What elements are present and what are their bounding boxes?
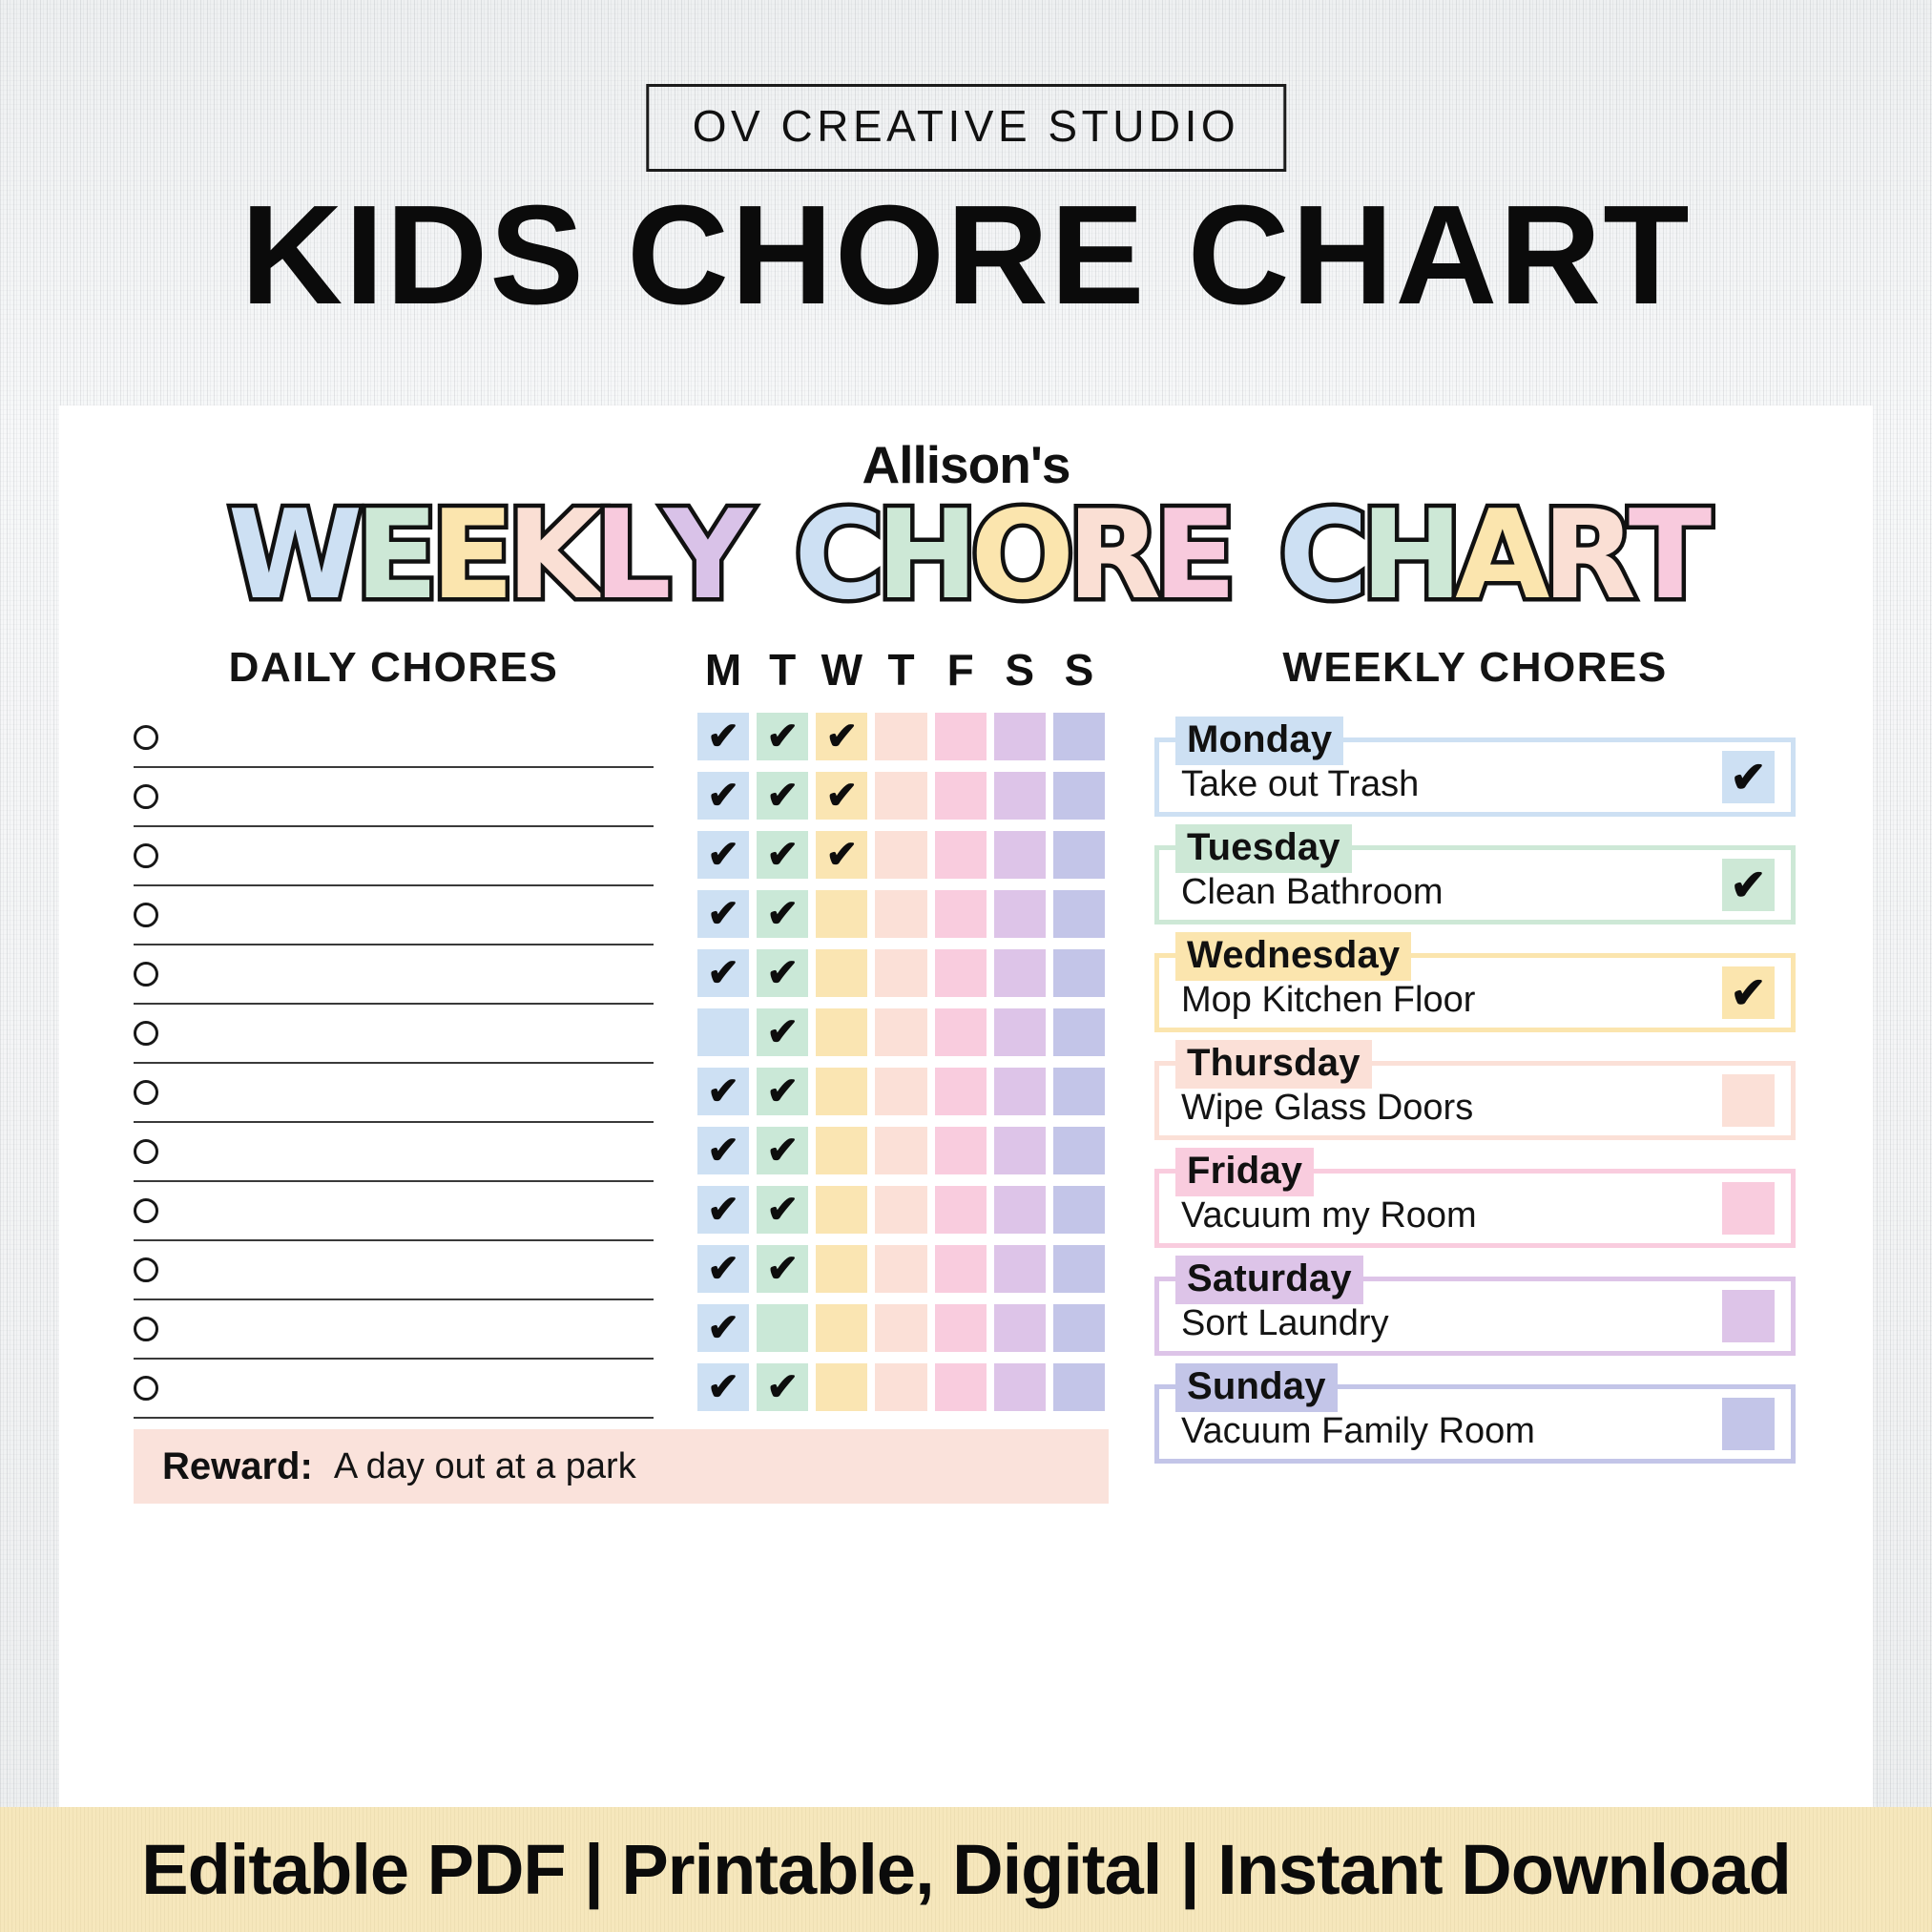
bubble-letter: Y: [664, 495, 747, 617]
checkbox-circle-icon[interactable]: [134, 962, 158, 987]
checkbox-circle-icon[interactable]: [134, 725, 158, 750]
grid-cell-empty[interactable]: [994, 1068, 1046, 1115]
bubble-word-weekly: WEEKLY: [228, 495, 745, 617]
daily-chores-list: [134, 709, 654, 1419]
grid-cell-empty[interactable]: [1053, 1068, 1105, 1115]
day-initial-5: S: [990, 644, 1049, 696]
grid-cell-checked[interactable]: ✔: [697, 890, 749, 938]
grid-cell-checked[interactable]: ✔: [816, 831, 867, 879]
reward-value[interactable]: A day out at a park: [334, 1446, 636, 1487]
grid-cell-empty[interactable]: [875, 713, 926, 760]
grid-cell-empty[interactable]: [875, 1245, 926, 1293]
grid-cell-empty[interactable]: [994, 772, 1046, 820]
daily-chore-row[interactable]: [134, 1241, 654, 1300]
grid-row: ✔✔: [694, 1121, 1109, 1180]
grid-cell-empty[interactable]: [875, 831, 926, 879]
bubble-letter: C: [1278, 495, 1362, 617]
checkbox-circle-icon[interactable]: [134, 1080, 158, 1105]
grid-cell-empty[interactable]: [994, 949, 1046, 997]
weekly-checkbox-empty[interactable]: [1722, 1290, 1775, 1342]
weekly-chores-list: MondayTake out Trash✔TuesdayClean Bathro…: [1154, 717, 1796, 1471]
weekly-chore-row[interactable]: ThursdayWipe Glass Doors: [1154, 1040, 1796, 1148]
checkbox-circle-icon[interactable]: [134, 1139, 158, 1164]
weekly-checkbox-empty[interactable]: [1722, 1074, 1775, 1127]
checkbox-circle-icon[interactable]: [134, 1317, 158, 1341]
weekly-chore-row[interactable]: SaturdaySort Laundry: [1154, 1256, 1796, 1363]
grid-cell-empty[interactable]: [994, 831, 1046, 879]
daily-chore-row[interactable]: [134, 1123, 654, 1182]
daily-chore-row[interactable]: [134, 1005, 654, 1064]
daily-chore-row[interactable]: [134, 886, 654, 945]
grid-cell-empty[interactable]: [994, 1127, 1046, 1174]
grid-cell-checked[interactable]: ✔: [757, 1363, 808, 1411]
grid-row: ✔✔✔: [694, 766, 1109, 825]
grid-cell-checked[interactable]: ✔: [697, 1363, 749, 1411]
day-initial-4: F: [931, 644, 990, 696]
grid-cell-empty[interactable]: [1053, 1245, 1105, 1293]
grid-row: ✔✔: [694, 1180, 1109, 1239]
weekly-task-label[interactable]: Wipe Glass Doors: [1181, 1088, 1473, 1129]
day-initial-3: T: [871, 644, 930, 696]
grid-cell-empty[interactable]: [935, 1363, 987, 1411]
weekly-checkbox-checked[interactable]: ✔: [1722, 859, 1775, 911]
bubble-letter: T: [1629, 495, 1706, 617]
grid-cell-empty[interactable]: [1053, 1363, 1105, 1411]
grid-cell-empty[interactable]: [935, 1127, 987, 1174]
grid-cell-empty[interactable]: [1053, 1008, 1105, 1056]
chore-chart-card: Allison's WEEKLYCHORECHART DAILY CHORES …: [59, 405, 1873, 1837]
grid-body: ✔✔✔✔✔✔✔✔✔✔✔✔✔✔✔✔✔✔✔✔✔✔✔✔✔: [694, 707, 1109, 1417]
grid-cell-empty[interactable]: [935, 1068, 987, 1115]
bubble-letter: A: [1455, 495, 1544, 617]
bubble-letter: L: [593, 495, 666, 617]
grid-cell-checked[interactable]: ✔: [697, 831, 749, 879]
grid-cell-empty[interactable]: [816, 949, 867, 997]
grid-cell-empty[interactable]: [875, 1008, 926, 1056]
grid-cell-checked[interactable]: ✔: [757, 772, 808, 820]
bubble-letter: R: [1542, 495, 1631, 617]
grid-cell-checked[interactable]: ✔: [697, 949, 749, 997]
grid-cell-empty[interactable]: [994, 1245, 1046, 1293]
grid-cell-checked[interactable]: ✔: [757, 1186, 808, 1234]
banner-text: Editable PDF | Printable, Digital | Inst…: [141, 1829, 1791, 1910]
bottom-banner: Editable PDF | Printable, Digital | Inst…: [0, 1807, 1932, 1932]
bubble-word-chart: CHART: [1278, 495, 1704, 617]
grid-cell-empty[interactable]: [994, 713, 1046, 760]
daily-chores-heading: DAILY CHORES: [134, 644, 654, 692]
grid-cell-empty[interactable]: [875, 1363, 926, 1411]
grid-cell-checked[interactable]: ✔: [757, 1245, 808, 1293]
brand-logo-box: OV CREATIVE STUDIO: [646, 84, 1286, 172]
bubble-letter: H: [876, 495, 972, 617]
weekly-day-label: Friday: [1175, 1148, 1314, 1196]
grid-cell-empty[interactable]: [935, 890, 987, 938]
grid-cell-checked[interactable]: ✔: [757, 1127, 808, 1174]
weekly-checkbox-checked[interactable]: ✔: [1722, 966, 1775, 1019]
grid-cell-empty[interactable]: [935, 1304, 987, 1352]
weekly-chore-row[interactable]: MondayTake out Trash✔: [1154, 717, 1796, 824]
grid-row: ✔: [694, 1003, 1109, 1062]
day-initials-header: MTWTFSS: [694, 644, 1109, 696]
bubble-title: WEEKLYCHORECHART: [59, 495, 1873, 617]
weekly-day-label: Sunday: [1175, 1363, 1338, 1412]
checkbox-circle-icon[interactable]: [134, 1257, 158, 1282]
grid-cell-empty[interactable]: [935, 1186, 987, 1234]
grid-cell-empty[interactable]: [875, 1186, 926, 1234]
daily-chore-row[interactable]: [134, 945, 654, 1005]
day-initial-6: S: [1049, 644, 1109, 696]
grid-row: ✔✔✔: [694, 825, 1109, 884]
grid-row: ✔✔: [694, 1239, 1109, 1298]
daily-chore-row[interactable]: [134, 1360, 654, 1419]
grid-cell-empty[interactable]: [816, 1363, 867, 1411]
grid-cell-empty[interactable]: [1053, 831, 1105, 879]
grid-cell-empty[interactable]: [816, 1245, 867, 1293]
grid-cell-empty[interactable]: [994, 1008, 1046, 1056]
reward-label: Reward:: [162, 1445, 313, 1488]
brand-name: OV CREATIVE STUDIO: [693, 100, 1239, 152]
day-initial-2: W: [812, 644, 871, 696]
grid-cell-empty[interactable]: [1053, 1127, 1105, 1174]
bubble-letter: W: [228, 495, 357, 617]
weekly-task-label[interactable]: Take out Trash: [1181, 764, 1419, 805]
bubble-letter: O: [970, 495, 1069, 617]
daily-chore-row[interactable]: [134, 1182, 654, 1241]
grid-cell-empty[interactable]: [1053, 1186, 1105, 1234]
grid-cell-checked[interactable]: ✔: [697, 1127, 749, 1174]
grid-cell-checked[interactable]: ✔: [697, 1068, 749, 1115]
weekly-task-label[interactable]: Clean Bathroom: [1181, 872, 1444, 913]
weekly-task-label[interactable]: Vacuum Family Room: [1181, 1411, 1535, 1452]
checkbox-circle-icon[interactable]: [134, 843, 158, 868]
grid-cell-empty[interactable]: [875, 1068, 926, 1115]
grid-cell-checked[interactable]: ✔: [757, 890, 808, 938]
grid-row: ✔✔: [694, 1062, 1109, 1121]
bubble-word-chore: CHORE: [794, 495, 1229, 617]
weekday-checkbox-grid: MTWTFSS ✔✔✔✔✔✔✔✔✔✔✔✔✔✔✔✔✔✔✔✔✔✔✔✔✔: [694, 644, 1109, 1417]
weekly-checkbox-empty[interactable]: [1722, 1182, 1775, 1235]
weekly-checkbox-checked[interactable]: ✔: [1722, 751, 1775, 803]
grid-cell-empty[interactable]: [994, 1363, 1046, 1411]
grid-cell-empty[interactable]: [1053, 1304, 1105, 1352]
grid-cell-empty[interactable]: [816, 1008, 867, 1056]
bubble-letter: E: [1153, 495, 1231, 617]
bubble-letter: C: [794, 495, 878, 617]
grid-row: ✔✔: [694, 944, 1109, 1003]
day-initial-0: M: [694, 644, 753, 696]
weekly-checkbox-empty[interactable]: [1722, 1398, 1775, 1450]
weekly-task-label[interactable]: Sort Laundry: [1181, 1303, 1389, 1344]
grid-cell-checked[interactable]: ✔: [757, 831, 808, 879]
grid-cell-empty[interactable]: [816, 1068, 867, 1115]
bubble-letter: E: [355, 495, 432, 617]
grid-cell-empty[interactable]: [935, 1008, 987, 1056]
grid-row: ✔✔: [694, 884, 1109, 944]
grid-cell-empty[interactable]: [1053, 772, 1105, 820]
grid-cell-checked[interactable]: ✔: [757, 1008, 808, 1056]
bubble-letter: K: [507, 495, 595, 617]
grid-cell-empty[interactable]: [1053, 890, 1105, 938]
grid-cell-checked[interactable]: ✔: [697, 1245, 749, 1293]
grid-cell-checked[interactable]: ✔: [697, 1304, 749, 1352]
grid-row: ✔✔: [694, 1358, 1109, 1417]
grid-row: ✔✔✔: [694, 707, 1109, 766]
reward-bar: Reward: A day out at a park: [134, 1429, 1109, 1504]
grid-cell-empty[interactable]: [935, 949, 987, 997]
weekly-chore-row[interactable]: TuesdayClean Bathroom✔: [1154, 824, 1796, 932]
daily-chore-row[interactable]: [134, 768, 654, 827]
grid-cell-empty[interactable]: [935, 1245, 987, 1293]
grid-cell-empty[interactable]: [816, 890, 867, 938]
bubble-letter: H: [1361, 495, 1457, 617]
weekly-day-label: Tuesday: [1175, 824, 1352, 873]
grid-cell-empty[interactable]: [1053, 713, 1105, 760]
grid-cell-empty[interactable]: [816, 1127, 867, 1174]
daily-chore-row[interactable]: [134, 827, 654, 886]
daily-chores-section: DAILY CHORES: [134, 644, 654, 1419]
grid-cell-empty[interactable]: [994, 1304, 1046, 1352]
grid-cell-checked[interactable]: ✔: [816, 772, 867, 820]
grid-cell-empty[interactable]: [994, 1186, 1046, 1234]
grid-cell-checked[interactable]: ✔: [697, 713, 749, 760]
weekly-chores-section: WEEKLY CHORES MondayTake out Trash✔Tuesd…: [1154, 644, 1796, 1471]
checkbox-circle-icon[interactable]: [134, 903, 158, 927]
grid-cell-empty[interactable]: [935, 713, 987, 760]
grid-cell-empty[interactable]: [697, 1008, 749, 1056]
weekly-chore-row[interactable]: WednesdayMop Kitchen Floor✔: [1154, 932, 1796, 1040]
weekly-day-label: Saturday: [1175, 1256, 1363, 1304]
grid-cell-checked[interactable]: ✔: [757, 713, 808, 760]
daily-chore-row[interactable]: [134, 709, 654, 768]
grid-cell-empty[interactable]: [875, 772, 926, 820]
weekly-task-label[interactable]: Mop Kitchen Floor: [1181, 980, 1475, 1021]
grid-cell-checked[interactable]: ✔: [697, 772, 749, 820]
grid-cell-checked[interactable]: ✔: [757, 949, 808, 997]
checkbox-circle-icon[interactable]: [134, 784, 158, 809]
weekly-day-label: Thursday: [1175, 1040, 1372, 1089]
grid-cell-empty[interactable]: [816, 1304, 867, 1352]
daily-chore-row[interactable]: [134, 1300, 654, 1360]
grid-row: ✔: [694, 1298, 1109, 1358]
weekly-day-label: Monday: [1175, 717, 1343, 765]
grid-cell-empty[interactable]: [994, 890, 1046, 938]
day-initial-1: T: [753, 644, 812, 696]
checkbox-circle-icon[interactable]: [134, 1021, 158, 1046]
checkbox-circle-icon[interactable]: [134, 1198, 158, 1223]
grid-cell-checked[interactable]: ✔: [757, 1068, 808, 1115]
weekly-chores-heading: WEEKLY CHORES: [1154, 644, 1796, 692]
grid-cell-empty[interactable]: [757, 1304, 808, 1352]
page-title: KIDS CHORE CHART: [0, 167, 1932, 343]
grid-cell-empty[interactable]: [935, 772, 987, 820]
grid-cell-empty[interactable]: [875, 1127, 926, 1174]
grid-cell-empty[interactable]: [816, 1186, 867, 1234]
daily-chore-row[interactable]: [134, 1064, 654, 1123]
checkbox-circle-icon[interactable]: [134, 1376, 158, 1401]
grid-cell-empty[interactable]: [875, 949, 926, 997]
grid-cell-checked[interactable]: ✔: [697, 1186, 749, 1234]
grid-cell-empty[interactable]: [875, 890, 926, 938]
grid-cell-empty[interactable]: [1053, 949, 1105, 997]
weekly-chore-row[interactable]: SundayVacuum Family Room: [1154, 1363, 1796, 1471]
grid-cell-empty[interactable]: [935, 831, 987, 879]
weekly-day-label: Wednesday: [1175, 932, 1411, 981]
grid-cell-checked[interactable]: ✔: [816, 713, 867, 760]
weekly-task-label[interactable]: Vacuum my Room: [1181, 1195, 1477, 1236]
bubble-letter: E: [430, 495, 508, 617]
weekly-chore-row[interactable]: FridayVacuum my Room: [1154, 1148, 1796, 1256]
grid-cell-empty[interactable]: [875, 1304, 926, 1352]
bubble-letter: R: [1067, 495, 1155, 617]
